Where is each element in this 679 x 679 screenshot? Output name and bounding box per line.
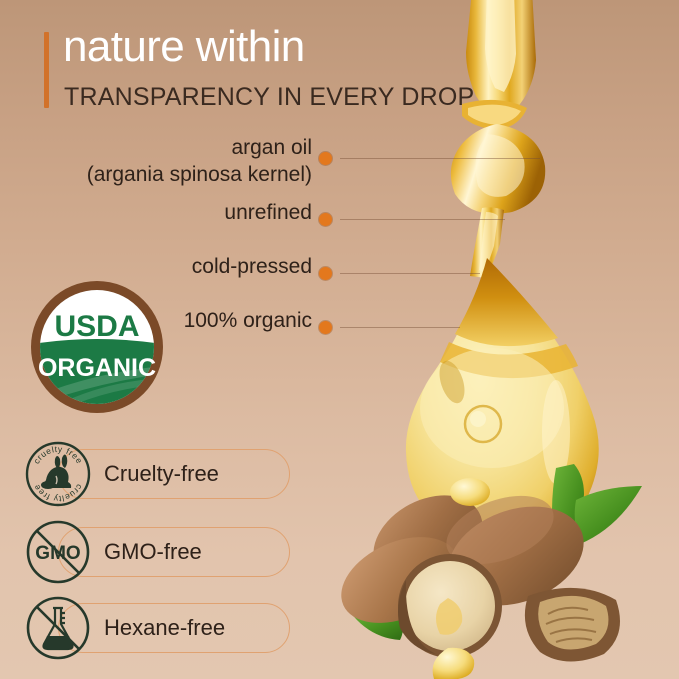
page-title: nature within (63, 20, 305, 74)
callout-dot (319, 321, 332, 334)
usda-seal-bottom-text: ORGANIC (38, 354, 156, 382)
badge-gmo-free: GMO GMO-free (24, 518, 294, 586)
badge-label: GMO-free (104, 518, 202, 586)
badge-label: Cruelty-free (104, 440, 219, 508)
callout-label: cold-pressed (192, 253, 312, 280)
no-hexane-flask-icon (24, 594, 92, 662)
callout-dot (319, 152, 332, 165)
badge-cruelty-free: cruelty free cruelty free Cruelty-free (24, 440, 294, 508)
badge-label: Hexane-free (104, 594, 225, 662)
callout-label: 100% organic (184, 307, 312, 334)
callout-label: argan oil (argania spinosa kernel) (87, 134, 312, 188)
callout-leader-line (340, 273, 480, 274)
callout-leader-line (340, 158, 540, 159)
callout-dot (319, 267, 332, 280)
accent-bar (44, 32, 49, 108)
callout-label: unrefined (224, 199, 312, 226)
callout-dot (319, 213, 332, 226)
callout-leader-line (340, 327, 460, 328)
infographic-canvas: nature within TRANSPARENCY IN EVERY DROP… (0, 0, 679, 679)
page-subtitle: TRANSPARENCY IN EVERY DROP (64, 82, 474, 112)
no-gmo-icon: GMO (24, 518, 92, 586)
badge-hexane-free: Hexane-free (24, 594, 294, 662)
callout-leader-line (340, 219, 505, 220)
cruelty-free-rabbit-icon: cruelty free cruelty free (24, 440, 92, 508)
usda-seal-top-text: USDA (54, 310, 139, 343)
usda-organic-seal: USDA ORGANIC (28, 278, 166, 416)
